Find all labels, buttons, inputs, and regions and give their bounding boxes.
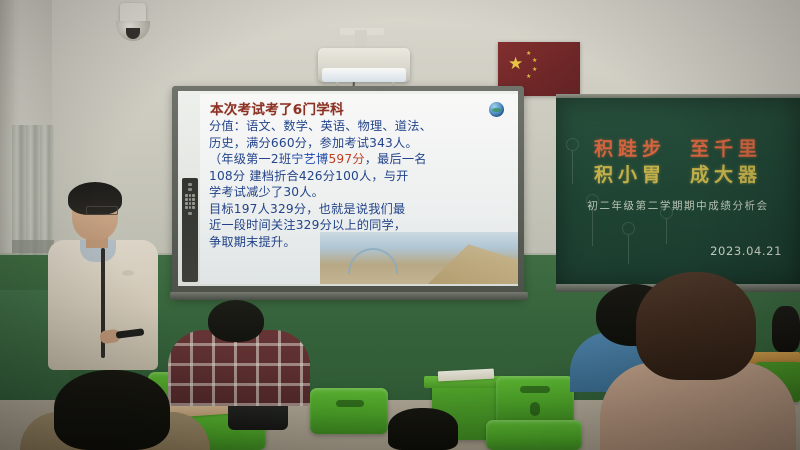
classroom-photo: ★ ★ ★ ★ ★ 本次考试考了6门学科 分值：语文、数学、英语、物理、道法、 … xyxy=(0,0,800,450)
slide-line-5: 学考试减少了30人。 xyxy=(209,184,511,201)
attendee-head-foreground xyxy=(636,272,756,380)
slide-line-8: 争取期末提升。 xyxy=(209,234,511,251)
keypad-key[interactable] xyxy=(192,194,195,197)
blackboard-meeting-subtitle: 初二年级第二学期期中成绩分析会 xyxy=(556,198,800,213)
slide-line-7: 近一段时间关注329分以上的同学， xyxy=(209,217,511,234)
flag-star-small-icon: ★ xyxy=(526,51,531,57)
attendee-head xyxy=(388,408,458,450)
attendee-head xyxy=(772,306,800,352)
control-keypad[interactable] xyxy=(185,194,195,209)
blackboard-slogan-line-1: 积跬步 至千里 xyxy=(556,134,800,161)
attendee-head xyxy=(208,300,264,342)
keypad-key[interactable] xyxy=(189,194,192,197)
flag-star-small-icon: ★ xyxy=(532,58,537,64)
blackboard-slogan-line-2: 积小胃 成大器 xyxy=(556,160,800,187)
classroom-chair-seat xyxy=(486,420,582,450)
flag-star-small-icon: ★ xyxy=(532,67,537,73)
whiteboard-tray xyxy=(170,292,528,300)
blackboard-date: 2023.04.21 xyxy=(710,244,782,258)
slide-line-2: 历史，满分660分，参加考试343人。 xyxy=(209,135,511,152)
glasses-icon xyxy=(86,206,118,215)
slide-body-text: 分值：语文、数学、英语、物理、道法、 历史，满分660分，参加考试343人。 （… xyxy=(209,118,511,250)
control-button[interactable] xyxy=(188,188,192,191)
projected-slide: 本次考试考了6门学科 分值：语文、数学、英语、物理、道法、 历史，满分660分，… xyxy=(200,94,518,284)
control-button[interactable] xyxy=(188,212,192,215)
keypad-key[interactable] xyxy=(192,206,195,209)
keypad-key[interactable] xyxy=(189,206,192,209)
slide-line-4: 108分 建档折合426分100人，与开 xyxy=(209,168,511,185)
classroom-chair xyxy=(310,388,388,434)
blackboard: 积跬步 至千里 积小胃 成大器 初二年级第二学期期中成绩分析会 2023.04.… xyxy=(556,98,800,288)
presenter-jacket-logo xyxy=(122,270,134,276)
slide-top-student-name: 宁艺博 xyxy=(291,152,328,166)
camera-mount xyxy=(120,3,146,23)
keypad-key[interactable] xyxy=(189,198,192,201)
keypad-key[interactable] xyxy=(185,206,188,209)
flag-star-small-icon: ★ xyxy=(526,74,531,80)
slide-top-student-score: 597分 xyxy=(328,152,364,166)
attendee-head-foreground xyxy=(54,370,170,450)
keypad-key[interactable] xyxy=(189,202,192,205)
keypad-key[interactable] xyxy=(192,202,195,205)
control-button[interactable] xyxy=(188,183,192,186)
slide-title: 本次考试考了6门学科 xyxy=(210,98,344,118)
slide-line-3: （年级第一2班宁艺博597分，最后一名 xyxy=(209,151,511,168)
keypad-key[interactable] xyxy=(185,194,188,197)
classroom-chair xyxy=(496,376,574,426)
keypad-key[interactable] xyxy=(192,198,195,201)
projector-lens-glow xyxy=(322,68,406,82)
slide-line-1: 分值：语文、数学、英语、物理、道法、 xyxy=(209,118,511,135)
board-control-panel[interactable] xyxy=(182,178,198,282)
slide-line-3-prefix: （年级第一2班 xyxy=(209,152,291,166)
slide-line-6: 目标197人329分，也就是说我们最 xyxy=(209,201,511,218)
flag-star-large-icon: ★ xyxy=(508,55,523,72)
keypad-key[interactable] xyxy=(185,198,188,201)
slide-line-3-suffix: ，最后一名 xyxy=(365,152,427,166)
globe-icon xyxy=(489,102,504,117)
keypad-key[interactable] xyxy=(185,202,188,205)
